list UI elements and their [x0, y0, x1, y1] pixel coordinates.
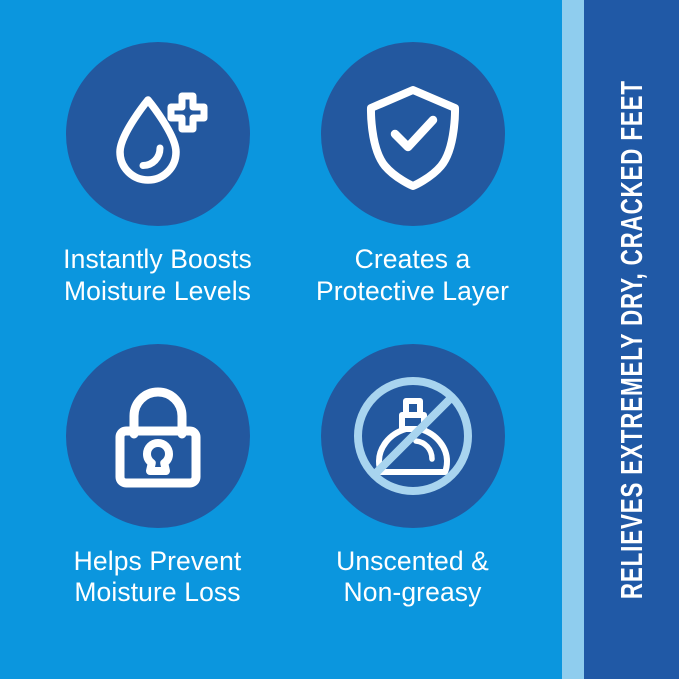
feature-grid: Instantly Boosts Moisture Levels Creates… — [0, 0, 562, 679]
feature-card-creates-a-protective-layer: Creates a Protective Layer — [285, 42, 540, 344]
feature-label: Helps Prevent Moisture Loss — [74, 546, 242, 609]
feature-icon-badge — [321, 344, 505, 528]
feature-icon-badge — [321, 42, 505, 226]
feature-icon-badge — [66, 42, 250, 226]
feature-label: Instantly Boosts Moisture Levels — [63, 244, 252, 307]
feature-icon-badge — [66, 344, 250, 528]
no-perfume-bottle-icon — [348, 371, 478, 501]
banner-headline: RELIEVES EXTREMELY DRY, CRACKED FEET — [614, 80, 650, 599]
feature-card-instantly-boosts-moisture-levels: Instantly Boosts Moisture Levels — [30, 42, 285, 344]
water-droplet-plus-icon — [98, 74, 218, 194]
feature-card-helps-prevent-moisture-loss: Helps Prevent Moisture Loss — [30, 344, 285, 646]
feature-label: Unscented & Non-greasy — [336, 546, 489, 609]
feature-card-unscented-and-non-greasy: Unscented & Non-greasy — [285, 344, 540, 646]
banner-accent-stripe — [562, 0, 584, 679]
shield-check-icon — [353, 74, 473, 194]
feature-label: Creates a Protective Layer — [316, 244, 509, 307]
padlock-icon — [98, 376, 218, 496]
banner-text-rotator: RELIEVES EXTREMELY DRY, CRACKED FEET — [584, 0, 679, 679]
vertical-banner: RELIEVES EXTREMELY DRY, CRACKED FEET — [584, 0, 679, 679]
product-feature-poster: Instantly Boosts Moisture Levels Creates… — [0, 0, 679, 679]
